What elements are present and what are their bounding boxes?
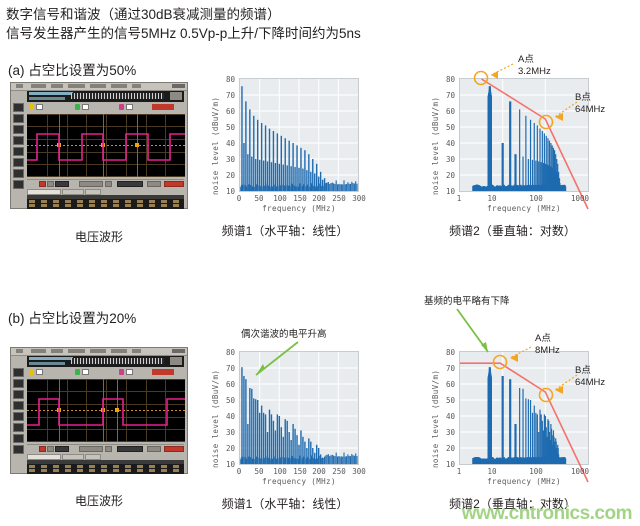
xtick: 200 — [310, 194, 328, 203]
caption-spectrum-linear-b: 频谱1（水平轴：线性） — [205, 495, 365, 512]
ytick: 40 — [437, 412, 455, 421]
scope-clock-b — [172, 349, 185, 353]
ytick: 50 — [437, 123, 455, 132]
ytick: 60 — [437, 380, 455, 389]
scope-menubar-b — [11, 348, 187, 356]
scope-waveform-grid-a — [27, 114, 185, 177]
page-root: 数字信号和谐波（通过30dB衰减测量的频谱） 信号发生器产生的信号5MHz 0.… — [0, 0, 640, 526]
b-point-name: B点 — [575, 365, 591, 376]
ytick: 20 — [437, 444, 455, 453]
ytick: 30 — [217, 155, 235, 164]
chart-a-log: noise level (dBuV/m) 80 70 60 50 40 30 2… — [425, 70, 600, 215]
ytick: 20 — [217, 444, 235, 453]
ytick: 40 — [217, 139, 235, 148]
xtick: 1 — [453, 467, 465, 476]
title-line-2: 信号发生器产生的信号5MHz 0.5Vp-p上升/下降时间约为5ns — [6, 24, 636, 43]
xtick: 50 — [252, 467, 266, 476]
scope-channel-bar-a[interactable] — [27, 103, 184, 112]
xtick: 300 — [350, 467, 368, 476]
b-point-frequency: 64MHz — [575, 377, 605, 388]
b-point-label: B点 64MHz — [575, 92, 605, 116]
title-line-1: 数字信号和谐波（通过30dB衰减测量的频谱） — [6, 5, 636, 24]
a-point-name: A点 — [518, 54, 534, 65]
chart-b-linear-xlabel: frequency (MHz) — [239, 477, 359, 486]
ytick: 30 — [437, 155, 455, 164]
scope-channel-2[interactable] — [75, 104, 80, 110]
scope-run-button-a[interactable] — [152, 104, 174, 110]
xtick: 1 — [453, 194, 465, 203]
xtick: 1000 — [569, 467, 591, 476]
scope-channel-2[interactable] — [75, 369, 80, 375]
a-point-label: A点 3.2MHz — [518, 54, 551, 78]
scope-menubar-a — [11, 83, 187, 91]
chart-a-linear-xlabel: frequency (MHz) — [239, 204, 359, 213]
ytick: 40 — [217, 412, 235, 421]
fundamental-drop-annotation: 基频的电平略有下降 — [424, 293, 510, 307]
scope-waveform-grid-b — [27, 379, 185, 442]
ytick: 30 — [437, 428, 455, 437]
scope-channel-bar-b[interactable] — [27, 368, 184, 377]
scope-trace-b — [27, 379, 185, 442]
a-point-frequency: 8MHz — [535, 345, 560, 356]
ytick: 40 — [437, 139, 455, 148]
xtick: 1000 — [569, 194, 591, 203]
ytick: 30 — [217, 428, 235, 437]
xtick: 10 — [485, 194, 499, 203]
ytick: 80 — [437, 75, 455, 84]
xtick: 0 — [233, 467, 245, 476]
ytick: 80 — [217, 75, 235, 84]
scope-control-bar-b[interactable] — [27, 444, 184, 454]
ytick: 50 — [437, 396, 455, 405]
scope-clock-a — [172, 84, 185, 88]
scope-toolbar-b[interactable] — [12, 368, 25, 451]
xtick: 50 — [252, 194, 266, 203]
scope-channel-3[interactable] — [119, 104, 124, 110]
ytick: 60 — [217, 107, 235, 116]
chart-a-linear: noise level (dBuV/m) 80 70 60 50 40 30 2… — [205, 70, 365, 215]
ytick: 60 — [217, 380, 235, 389]
xtick: 10 — [485, 467, 499, 476]
scope-trace-a — [27, 114, 185, 177]
xtick: 0 — [233, 194, 245, 203]
xtick: 100 — [527, 194, 545, 203]
xtick: 300 — [350, 194, 368, 203]
site-watermark: www.cntronics.com — [462, 503, 632, 525]
oscilloscope-screenshot-b — [10, 347, 188, 474]
chart-a-linear-plotarea — [239, 78, 359, 192]
a-point-name: A点 — [535, 333, 551, 344]
scope-channel-1[interactable] — [29, 369, 34, 375]
ytick: 60 — [437, 107, 455, 116]
even-harmonics-annotation: 偶次谐波的电平升高 — [241, 326, 327, 340]
ytick: 80 — [217, 348, 235, 357]
ytick: 80 — [437, 348, 455, 357]
section-label-b: (b) 占空比设置为20% — [8, 307, 136, 327]
xtick: 250 — [330, 194, 348, 203]
ytick: 20 — [437, 171, 455, 180]
caption-waveform-a: 电压波形 — [10, 228, 188, 245]
scope-toolbar-a[interactable] — [12, 103, 25, 186]
b-point-name: B点 — [575, 92, 591, 103]
xtick: 100 — [271, 194, 289, 203]
ytick: 50 — [217, 123, 235, 132]
caption-spectrum-log-a: 频谱2（垂直轴：对数） — [425, 222, 600, 239]
oscilloscope-screenshot-a — [10, 82, 188, 209]
ytick: 20 — [217, 171, 235, 180]
ytick: 50 — [217, 396, 235, 405]
even-harmonics-arrow-icon — [246, 340, 306, 378]
xtick: 150 — [291, 467, 309, 476]
caption-spectrum-linear-a: 频谱1（水平轴：线性） — [205, 222, 365, 239]
section-label-a: (a) 占空比设置为50% — [8, 59, 136, 79]
scope-run-button-b[interactable] — [152, 369, 174, 375]
a-point-label-b: A点 8MHz — [535, 333, 560, 357]
chart-a-log-xlabel: frequency (MHz) — [459, 204, 589, 213]
scope-measurement-table-b — [27, 460, 184, 474]
b-point-frequency: 64MHz — [575, 104, 605, 115]
scope-channel-3[interactable] — [119, 369, 124, 375]
xtick: 100 — [527, 467, 545, 476]
scope-infobar-b — [27, 356, 184, 367]
xtick: 150 — [291, 194, 309, 203]
caption-waveform-b: 电压波形 — [10, 492, 188, 509]
page-title: 数字信号和谐波（通过30dB衰减测量的频谱） 信号发生器产生的信号5MHz 0.… — [6, 5, 636, 43]
scope-control-bar-a[interactable] — [27, 179, 184, 189]
scope-channel-1[interactable] — [29, 104, 34, 110]
xtick: 200 — [310, 467, 328, 476]
scope-infobar-a — [27, 91, 184, 102]
xtick: 250 — [330, 467, 348, 476]
scope-measurement-table-a — [27, 195, 184, 209]
fundamental-drop-arrow-icon — [455, 307, 500, 357]
chart-b-log-xlabel: frequency (MHz) — [459, 477, 589, 486]
chart-b-log: noise level (dBuV/m) 80 70 60 50 40 30 2… — [425, 343, 600, 488]
ytick: 70 — [217, 91, 235, 100]
ytick: 70 — [437, 91, 455, 100]
ytick: 70 — [217, 364, 235, 373]
b-point-label-b: B点 64MHz — [575, 365, 605, 389]
a-point-frequency: 3.2MHz — [518, 66, 551, 77]
ytick: 70 — [437, 364, 455, 373]
xtick: 100 — [271, 467, 289, 476]
